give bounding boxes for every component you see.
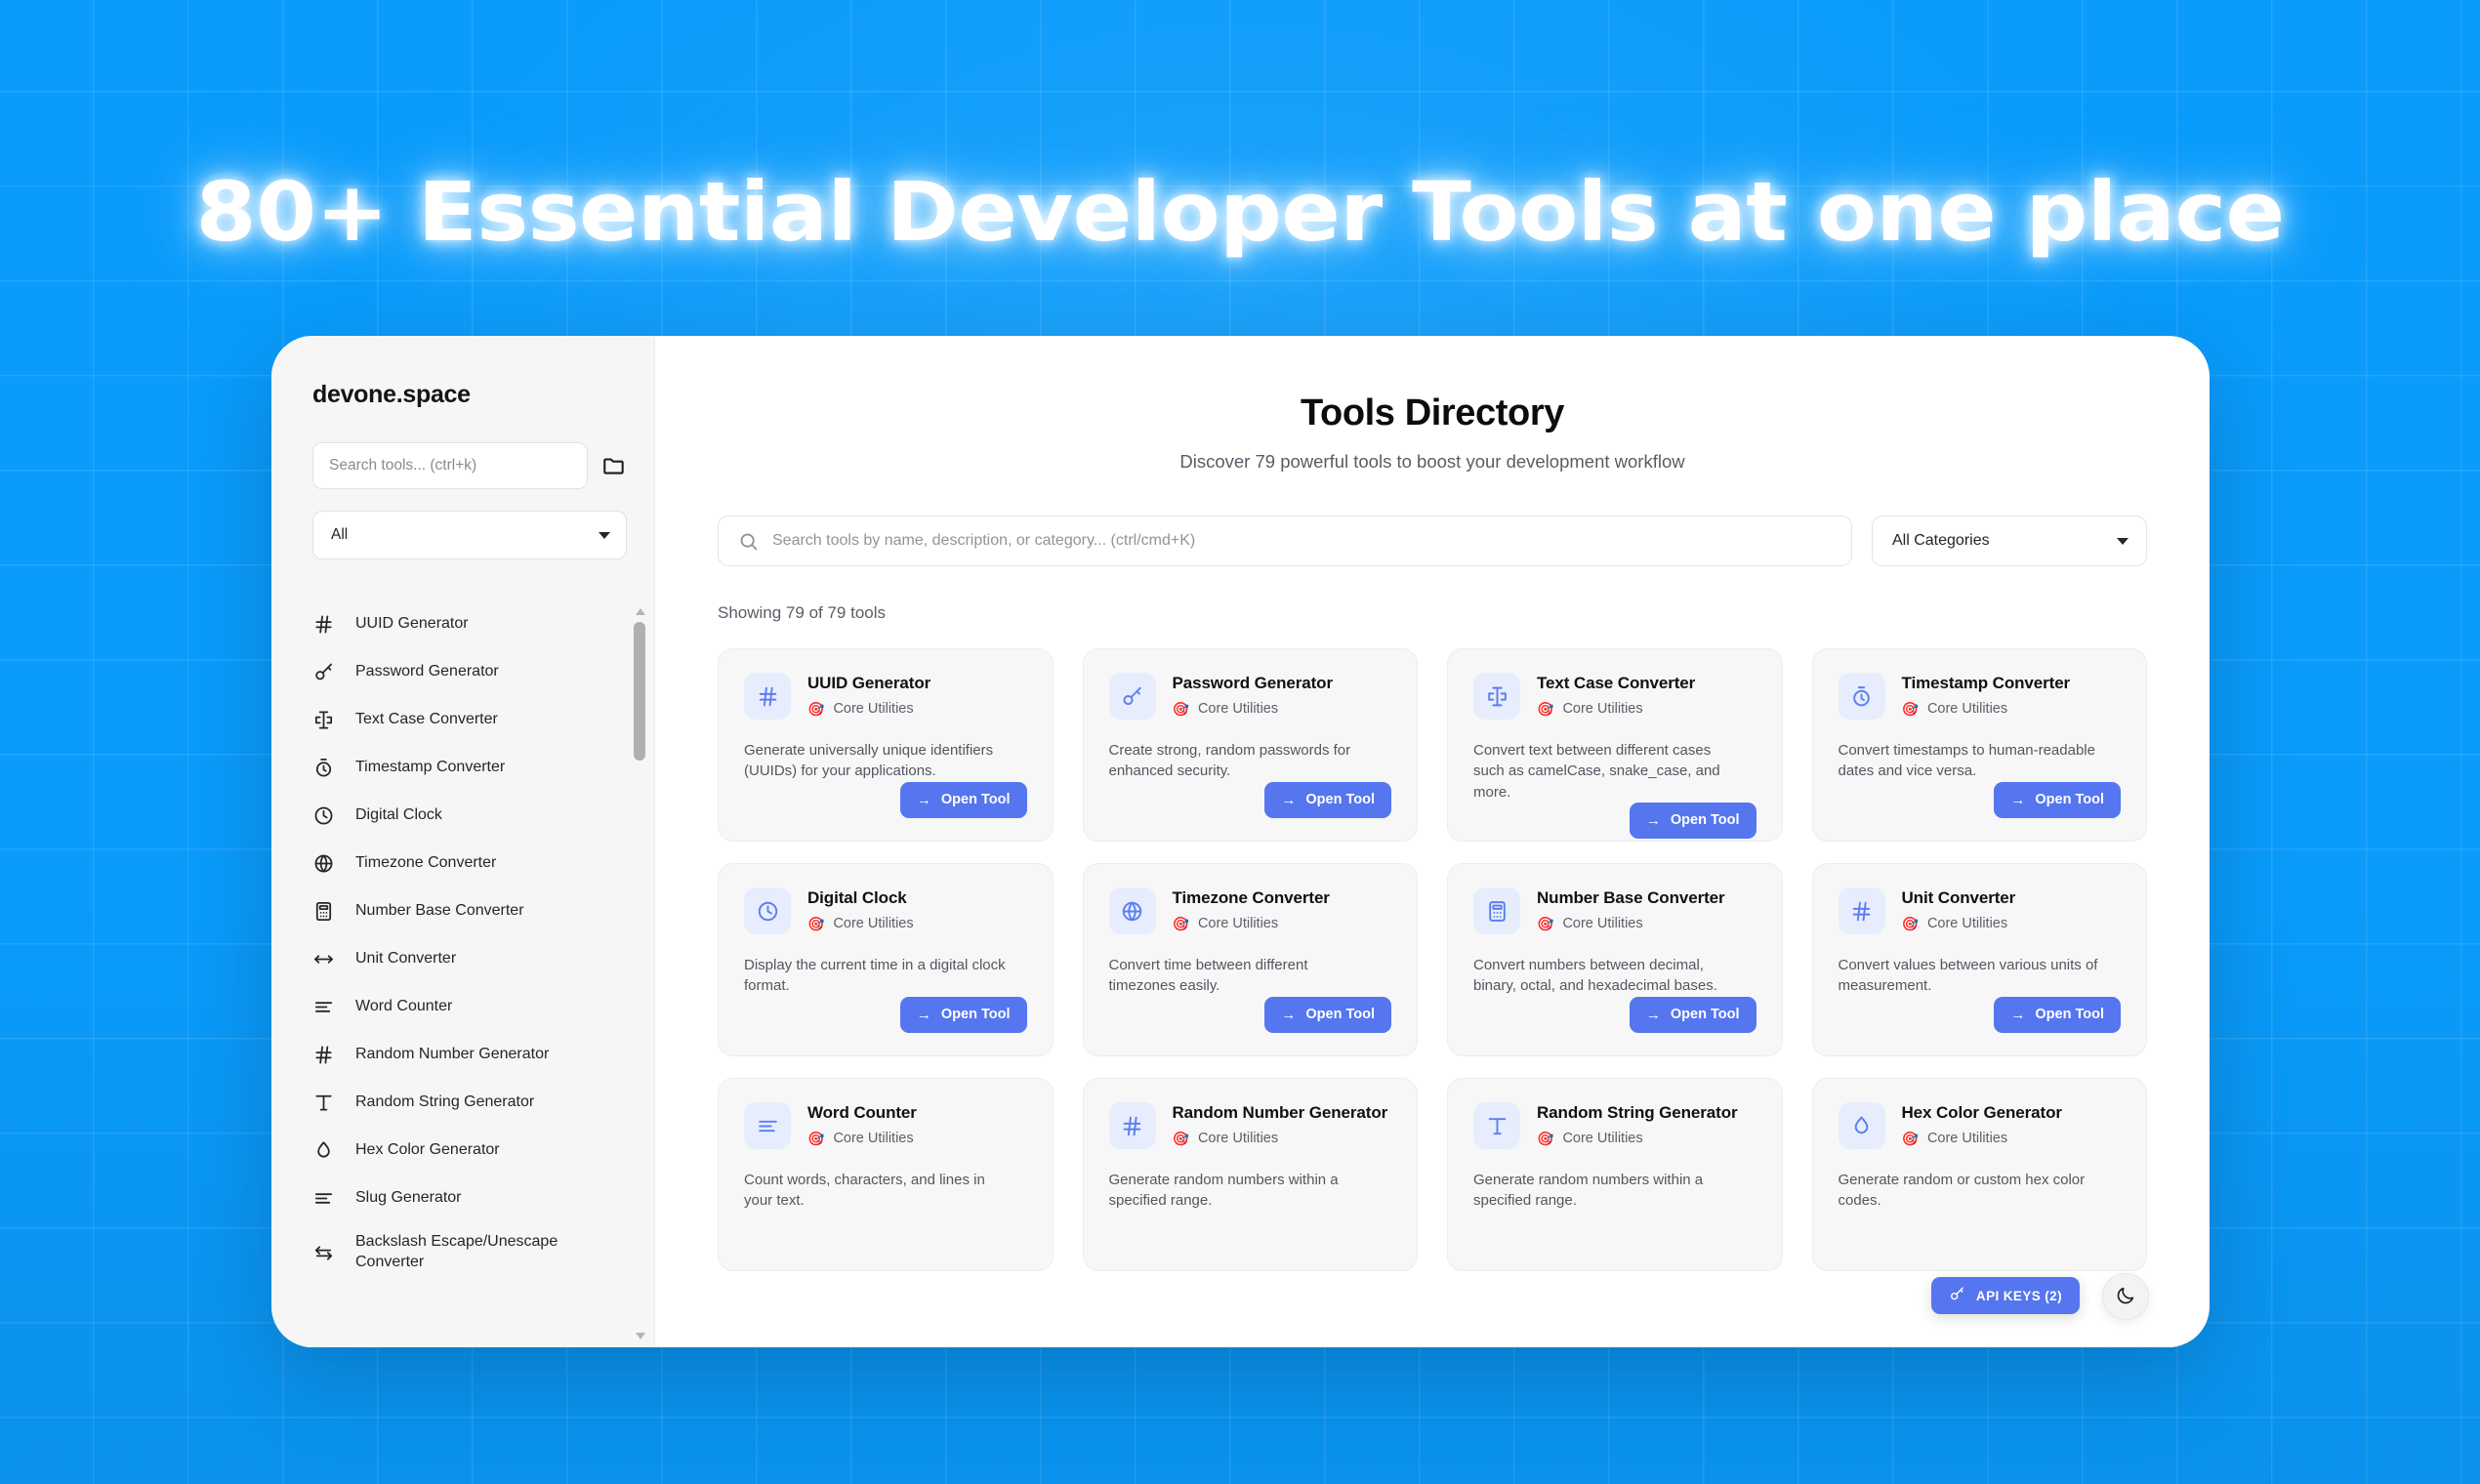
card-category: 🎯Core Utilities	[1537, 701, 1695, 717]
sidebar-item-text-case-converter[interactable]: Text Case Converter	[289, 696, 654, 744]
card-title: Random String Generator	[1537, 1103, 1738, 1123]
results-count: Showing 79 of 79 tools	[718, 603, 2147, 623]
hero-headline: 80+ Essential Developer Tools at one pla…	[0, 164, 2480, 260]
sidebar-item-backslash-escape-unescape-converter[interactable]: Backslash Escape/Unescape Converter	[289, 1222, 654, 1283]
card-head: Unit Converter🎯Core Utilities	[1839, 887, 2122, 934]
timer-icon	[312, 757, 335, 779]
card-category-label: Core Utilities	[1927, 1131, 2007, 1146]
card-description: Convert values between various units of …	[1839, 955, 2107, 997]
search-input-wrapper[interactable]	[718, 515, 1852, 566]
card-title: Password Generator	[1173, 674, 1333, 693]
tool-card[interactable]: Unit Converter🎯Core UtilitiesConvert val…	[1812, 863, 2148, 1056]
globe-icon	[1109, 887, 1156, 934]
open-tool-button[interactable]: →Open Tool	[1994, 782, 2121, 818]
open-tool-label: Open Tool	[941, 1007, 1011, 1022]
sidebar: devone.space All UUID GeneratorPassword …	[271, 336, 655, 1347]
sidebar-item-digital-clock[interactable]: Digital Clock	[289, 792, 654, 840]
card-head: Word Counter🎯Core Utilities	[744, 1102, 1027, 1149]
brand-title: devone.space	[271, 381, 654, 409]
card-category-label: Core Utilities	[1562, 916, 1642, 931]
type-icon	[1473, 1102, 1520, 1149]
card-description: Generate random or custom hex color code…	[1839, 1170, 2107, 1212]
tool-card[interactable]: Password Generator🎯Core UtilitiesCreate …	[1083, 648, 1419, 842]
sidebar-item-label: Random String Generator	[355, 1092, 534, 1113]
hash-icon	[744, 673, 791, 720]
key-icon	[312, 661, 335, 683]
moon-icon	[2115, 1285, 2136, 1309]
card-title: Timezone Converter	[1173, 888, 1330, 908]
arrow-right-icon: →	[2010, 793, 2025, 807]
card-head-text: Random Number Generator🎯Core Utilities	[1173, 1102, 1388, 1146]
tool-card[interactable]: Text Case Converter🎯Core UtilitiesConver…	[1447, 648, 1783, 842]
card-category: 🎯Core Utilities	[1902, 1131, 2062, 1146]
tool-card[interactable]: Word Counter🎯Core UtilitiesCount words, …	[718, 1078, 1054, 1271]
card-action: →Open Tool	[1473, 803, 1757, 839]
target-icon: 🎯	[1537, 917, 1553, 930]
api-keys-label: API KEYS (2)	[1976, 1289, 2062, 1303]
sidebar-nav: UUID GeneratorPassword GeneratorText Cas…	[271, 600, 654, 1347]
card-head: Number Base Converter🎯Core Utilities	[1473, 887, 1757, 934]
sidebar-item-label: Number Base Converter	[355, 901, 524, 922]
card-head-text: Word Counter🎯Core Utilities	[807, 1102, 917, 1146]
sidebar-item-label: Word Counter	[355, 997, 452, 1017]
search-icon	[738, 531, 759, 552]
sidebar-search-row	[271, 442, 654, 489]
arrow-right-icon: →	[1646, 813, 1661, 828]
card-head-text: Unit Converter🎯Core Utilities	[1902, 887, 2016, 931]
card-head-text: Timezone Converter🎯Core Utilities	[1173, 887, 1330, 931]
open-tool-button[interactable]: →Open Tool	[1994, 997, 2121, 1033]
card-title: Random Number Generator	[1173, 1103, 1388, 1123]
sidebar-search-input[interactable]	[312, 442, 588, 489]
card-description: Generate random numbers within a specifi…	[1473, 1170, 1742, 1212]
card-category-label: Core Utilities	[1562, 1131, 1642, 1146]
open-tool-button[interactable]: →Open Tool	[900, 997, 1027, 1033]
card-head-text: Timestamp Converter🎯Core Utilities	[1902, 673, 2071, 717]
droplet-icon	[312, 1139, 335, 1162]
arrow-right-icon: →	[2010, 1008, 2025, 1022]
page-subtitle: Discover 79 powerful tools to boost your…	[718, 451, 2147, 473]
droplet-icon	[1839, 1102, 1885, 1149]
card-description: Display the current time in a digital cl…	[744, 955, 1013, 997]
sidebar-item-timezone-converter[interactable]: Timezone Converter	[289, 840, 654, 887]
card-title: Text Case Converter	[1537, 674, 1695, 693]
card-head: UUID Generator🎯Core Utilities	[744, 673, 1027, 720]
calculator-icon	[1473, 887, 1520, 934]
sidebar-item-timestamp-converter[interactable]: Timestamp Converter	[289, 744, 654, 792]
sidebar-item-label: Slug Generator	[355, 1188, 462, 1209]
card-head: Hex Color Generator🎯Core Utilities	[1839, 1102, 2122, 1149]
card-action: →Open Tool	[744, 782, 1027, 818]
card-description: Convert timestamps to human-readable dat…	[1839, 740, 2107, 782]
card-action: →Open Tool	[1839, 997, 2122, 1033]
sidebar-item-slug-generator[interactable]: Slug Generator	[289, 1175, 654, 1222]
arrow-right-icon: →	[1646, 1008, 1661, 1022]
card-category-label: Core Utilities	[833, 916, 913, 931]
card-head-text: Hex Color Generator🎯Core Utilities	[1902, 1102, 2062, 1146]
sidebar-category-filter[interactable]: All	[312, 511, 627, 559]
sidebar-item-random-number-generator[interactable]: Random Number Generator	[289, 1031, 654, 1079]
card-head-text: Random String Generator🎯Core Utilities	[1537, 1102, 1738, 1146]
target-icon: 🎯	[1537, 702, 1553, 716]
category-select-value: All Categories	[1892, 532, 1990, 550]
open-tool-label: Open Tool	[1671, 812, 1740, 828]
sidebar-filter-value: All	[331, 526, 348, 544]
card-head-text: Password Generator🎯Core Utilities	[1173, 673, 1333, 717]
app-window: devone.space All UUID GeneratorPassword …	[271, 336, 2210, 1347]
card-title: Hex Color Generator	[1902, 1103, 2062, 1123]
scroll-down-arrow-icon[interactable]	[636, 1333, 645, 1340]
card-description: Convert time between different timezones…	[1109, 955, 1378, 997]
sidebar-item-hex-color-generator[interactable]: Hex Color Generator	[289, 1127, 654, 1175]
card-action: →Open Tool	[1473, 997, 1757, 1033]
card-category: 🎯Core Utilities	[1537, 1131, 1738, 1146]
card-description: Generate random numbers within a specifi…	[1109, 1170, 1378, 1212]
card-category: 🎯Core Utilities	[807, 1131, 917, 1146]
sidebar-item-label: Digital Clock	[355, 805, 442, 826]
target-icon: 🎯	[1902, 702, 1919, 716]
card-category-label: Core Utilities	[1198, 1131, 1278, 1146]
align-left-icon	[744, 1102, 791, 1149]
card-head: Random String Generator🎯Core Utilities	[1473, 1102, 1757, 1149]
card-category: 🎯Core Utilities	[807, 701, 930, 717]
target-icon: 🎯	[1902, 917, 1919, 930]
card-category: 🎯Core Utilities	[1173, 701, 1333, 717]
card-category: 🎯Core Utilities	[1537, 916, 1725, 931]
sidebar-item-label: Text Case Converter	[355, 710, 498, 730]
tool-card[interactable]: Timestamp Converter🎯Core UtilitiesConver…	[1812, 648, 2148, 842]
arrows-horizontal-icon	[312, 948, 335, 970]
card-description: Count words, characters, and lines in yo…	[744, 1170, 1013, 1212]
card-action: →Open Tool	[1109, 782, 1392, 818]
search-row: All Categories	[718, 515, 2147, 566]
sidebar-item-uuid-generator[interactable]: UUID Generator	[289, 600, 654, 648]
sidebar-item-number-base-converter[interactable]: Number Base Converter	[289, 887, 654, 935]
chevron-down-icon	[2117, 538, 2129, 545]
open-tool-label: Open Tool	[2035, 1007, 2104, 1022]
text-case-icon	[312, 709, 335, 731]
open-tool-label: Open Tool	[941, 792, 1011, 807]
main-content: Tools Directory Discover 79 powerful too…	[655, 336, 2210, 1347]
tools-grid: UUID Generator🎯Core UtilitiesGenerate un…	[718, 648, 2147, 1271]
sidebar-item-unit-converter[interactable]: Unit Converter	[289, 935, 654, 983]
timer-icon	[1839, 673, 1885, 720]
card-category-label: Core Utilities	[1927, 701, 2007, 717]
tool-card[interactable]: Random String Generator🎯Core UtilitiesGe…	[1447, 1078, 1783, 1271]
card-description: Create strong, random passwords for enha…	[1109, 740, 1378, 782]
tool-card[interactable]: Timezone Converter🎯Core UtilitiesConvert…	[1083, 863, 1419, 1056]
card-head: Digital Clock🎯Core Utilities	[744, 887, 1027, 934]
hash-icon	[1839, 887, 1885, 934]
card-category-label: Core Utilities	[1927, 916, 2007, 931]
align-left-icon	[312, 1187, 335, 1210]
sidebar-item-label: Backslash Escape/Unescape Converter	[355, 1232, 615, 1273]
sidebar-item-label: Random Number Generator	[355, 1045, 549, 1065]
card-category: 🎯Core Utilities	[1902, 701, 2071, 717]
hash-icon	[312, 613, 335, 636]
card-category: 🎯Core Utilities	[1173, 1131, 1388, 1146]
target-icon: 🎯	[1537, 1132, 1553, 1145]
calculator-icon	[312, 900, 335, 923]
tool-card[interactable]: Digital Clock🎯Core UtilitiesDisplay the …	[718, 863, 1054, 1056]
target-icon: 🎯	[807, 702, 824, 716]
arrow-right-icon: →	[1281, 793, 1296, 807]
arrow-right-icon: →	[917, 1008, 931, 1022]
clock-icon	[744, 887, 791, 934]
tool-card[interactable]: UUID Generator🎯Core UtilitiesGenerate un…	[718, 648, 1054, 842]
card-category: 🎯Core Utilities	[1173, 916, 1330, 931]
open-tool-label: Open Tool	[2035, 792, 2104, 807]
card-action: →Open Tool	[1839, 782, 2122, 818]
card-head: Password Generator🎯Core Utilities	[1109, 673, 1392, 720]
tool-card[interactable]: Number Base Converter🎯Core UtilitiesConv…	[1447, 863, 1783, 1056]
sidebar-item-label: UUID Generator	[355, 614, 469, 635]
open-tool-button[interactable]: →Open Tool	[1630, 803, 1757, 839]
folder-icon[interactable]	[601, 453, 627, 478]
card-title: UUID Generator	[807, 674, 930, 693]
target-icon: 🎯	[1902, 1132, 1919, 1145]
card-head-text: Text Case Converter🎯Core Utilities	[1537, 673, 1695, 717]
card-category: 🎯Core Utilities	[807, 916, 914, 931]
card-description: Generate universally unique identifiers …	[744, 740, 1013, 782]
card-title: Timestamp Converter	[1902, 674, 2071, 693]
open-tool-button[interactable]: →Open Tool	[1264, 997, 1391, 1033]
clock-icon	[312, 804, 335, 827]
sidebar-item-label: Hex Color Generator	[355, 1140, 500, 1161]
theme-toggle-button[interactable]	[2102, 1273, 2149, 1320]
scrollbar-thumb[interactable]	[634, 622, 645, 761]
sidebar-item-random-string-generator[interactable]: Random String Generator	[289, 1079, 654, 1127]
open-tool-button[interactable]: →Open Tool	[900, 782, 1027, 818]
card-head: Random Number Generator🎯Core Utilities	[1109, 1102, 1392, 1149]
card-description: Convert text between different cases suc…	[1473, 740, 1742, 803]
card-head: Timezone Converter🎯Core Utilities	[1109, 887, 1392, 934]
card-category-label: Core Utilities	[1198, 701, 1278, 717]
target-icon: 🎯	[807, 1132, 824, 1145]
card-title: Number Base Converter	[1537, 888, 1725, 908]
hash-icon	[1109, 1102, 1156, 1149]
card-head: Text Case Converter🎯Core Utilities	[1473, 673, 1757, 720]
chevron-down-icon	[599, 532, 610, 539]
type-icon	[312, 1092, 335, 1114]
card-title: Word Counter	[807, 1103, 917, 1123]
search-input[interactable]	[772, 532, 1832, 550]
open-tool-button[interactable]: →Open Tool	[1264, 782, 1391, 818]
key-icon	[1949, 1286, 1965, 1305]
sidebar-item-password-generator[interactable]: Password Generator	[289, 648, 654, 696]
scroll-up-arrow-icon[interactable]	[636, 608, 645, 615]
card-head-text: Number Base Converter🎯Core Utilities	[1537, 887, 1725, 931]
category-select[interactable]: All Categories	[1872, 515, 2147, 566]
sidebar-item-label: Unit Converter	[355, 949, 456, 969]
target-icon: 🎯	[1173, 1132, 1189, 1145]
open-tool-label: Open Tool	[1305, 792, 1375, 807]
card-description: Convert numbers between decimal, binary,…	[1473, 955, 1742, 997]
target-icon: 🎯	[1173, 702, 1189, 716]
sidebar-item-label: Timestamp Converter	[355, 758, 505, 778]
api-keys-button[interactable]: API KEYS (2)	[1931, 1277, 2080, 1314]
swap-arrows-icon	[312, 1242, 335, 1264]
card-head-text: UUID Generator🎯Core Utilities	[807, 673, 930, 717]
sidebar-scrollbar[interactable]	[633, 600, 648, 1347]
tool-card[interactable]: Hex Color Generator🎯Core UtilitiesGenera…	[1812, 1078, 2148, 1271]
page-title: Tools Directory	[718, 392, 2147, 434]
target-icon: 🎯	[807, 917, 824, 930]
card-category-label: Core Utilities	[833, 701, 913, 717]
open-tool-button[interactable]: →Open Tool	[1630, 997, 1757, 1033]
card-action: →Open Tool	[744, 997, 1027, 1033]
tool-card[interactable]: Random Number Generator🎯Core UtilitiesGe…	[1083, 1078, 1419, 1271]
sidebar-item-label: Password Generator	[355, 662, 499, 682]
arrow-right-icon: →	[917, 793, 931, 807]
arrow-right-icon: →	[1281, 1008, 1296, 1022]
key-icon	[1109, 673, 1156, 720]
card-action: →Open Tool	[1109, 997, 1392, 1033]
align-left-icon	[312, 996, 335, 1018]
text-case-icon	[1473, 673, 1520, 720]
hash-icon	[312, 1044, 335, 1066]
open-tool-label: Open Tool	[1671, 1007, 1740, 1022]
globe-icon	[312, 852, 335, 875]
card-title: Unit Converter	[1902, 888, 2016, 908]
card-category-label: Core Utilities	[1198, 916, 1278, 931]
card-title: Digital Clock	[807, 888, 914, 908]
card-head-text: Digital Clock🎯Core Utilities	[807, 887, 914, 931]
card-category-label: Core Utilities	[1562, 701, 1642, 717]
card-category: 🎯Core Utilities	[1902, 916, 2016, 931]
card-head: Timestamp Converter🎯Core Utilities	[1839, 673, 2122, 720]
target-icon: 🎯	[1173, 917, 1189, 930]
open-tool-label: Open Tool	[1305, 1007, 1375, 1022]
sidebar-item-word-counter[interactable]: Word Counter	[289, 983, 654, 1031]
card-category-label: Core Utilities	[833, 1131, 913, 1146]
sidebar-item-label: Timezone Converter	[355, 853, 496, 874]
